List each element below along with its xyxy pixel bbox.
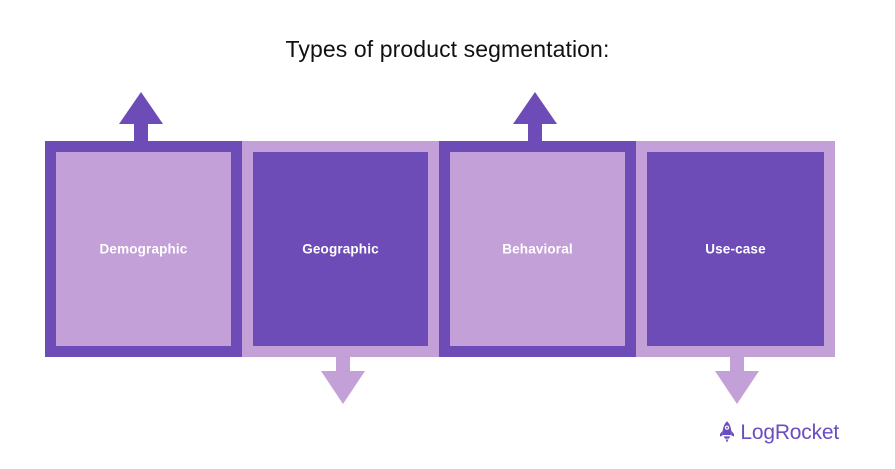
arrow-head-down-icon <box>715 371 759 404</box>
segment-box-use-case[interactable]: Use-case <box>636 141 835 357</box>
segment-box-demographic[interactable]: Demographic <box>45 141 242 357</box>
arrow-head-up-icon <box>513 92 557 124</box>
brand-name: LogRocket <box>740 422 839 443</box>
rocket-icon <box>717 420 737 444</box>
brand-logo: LogRocket <box>717 420 839 444</box>
segment-box-geographic[interactable]: Geographic <box>242 141 439 357</box>
segment-label: Geographic <box>253 242 428 257</box>
segment-label: Use-case <box>647 242 824 257</box>
arrow-down-use-case <box>715 350 759 404</box>
arrow-down-geographic <box>321 350 365 404</box>
segment-box-behavioral[interactable]: Behavioral <box>439 141 636 357</box>
diagram-canvas: Types of product segmentation: Demograph… <box>0 0 895 469</box>
segment-label: Demographic <box>56 242 231 257</box>
segmentation-band: Demographic Geographic Behavioral Use-ca… <box>45 141 835 357</box>
page-title: Types of product segmentation: <box>0 36 895 63</box>
arrow-head-up-icon <box>119 92 163 124</box>
segment-label: Behavioral <box>450 242 625 257</box>
arrow-head-down-icon <box>321 371 365 404</box>
